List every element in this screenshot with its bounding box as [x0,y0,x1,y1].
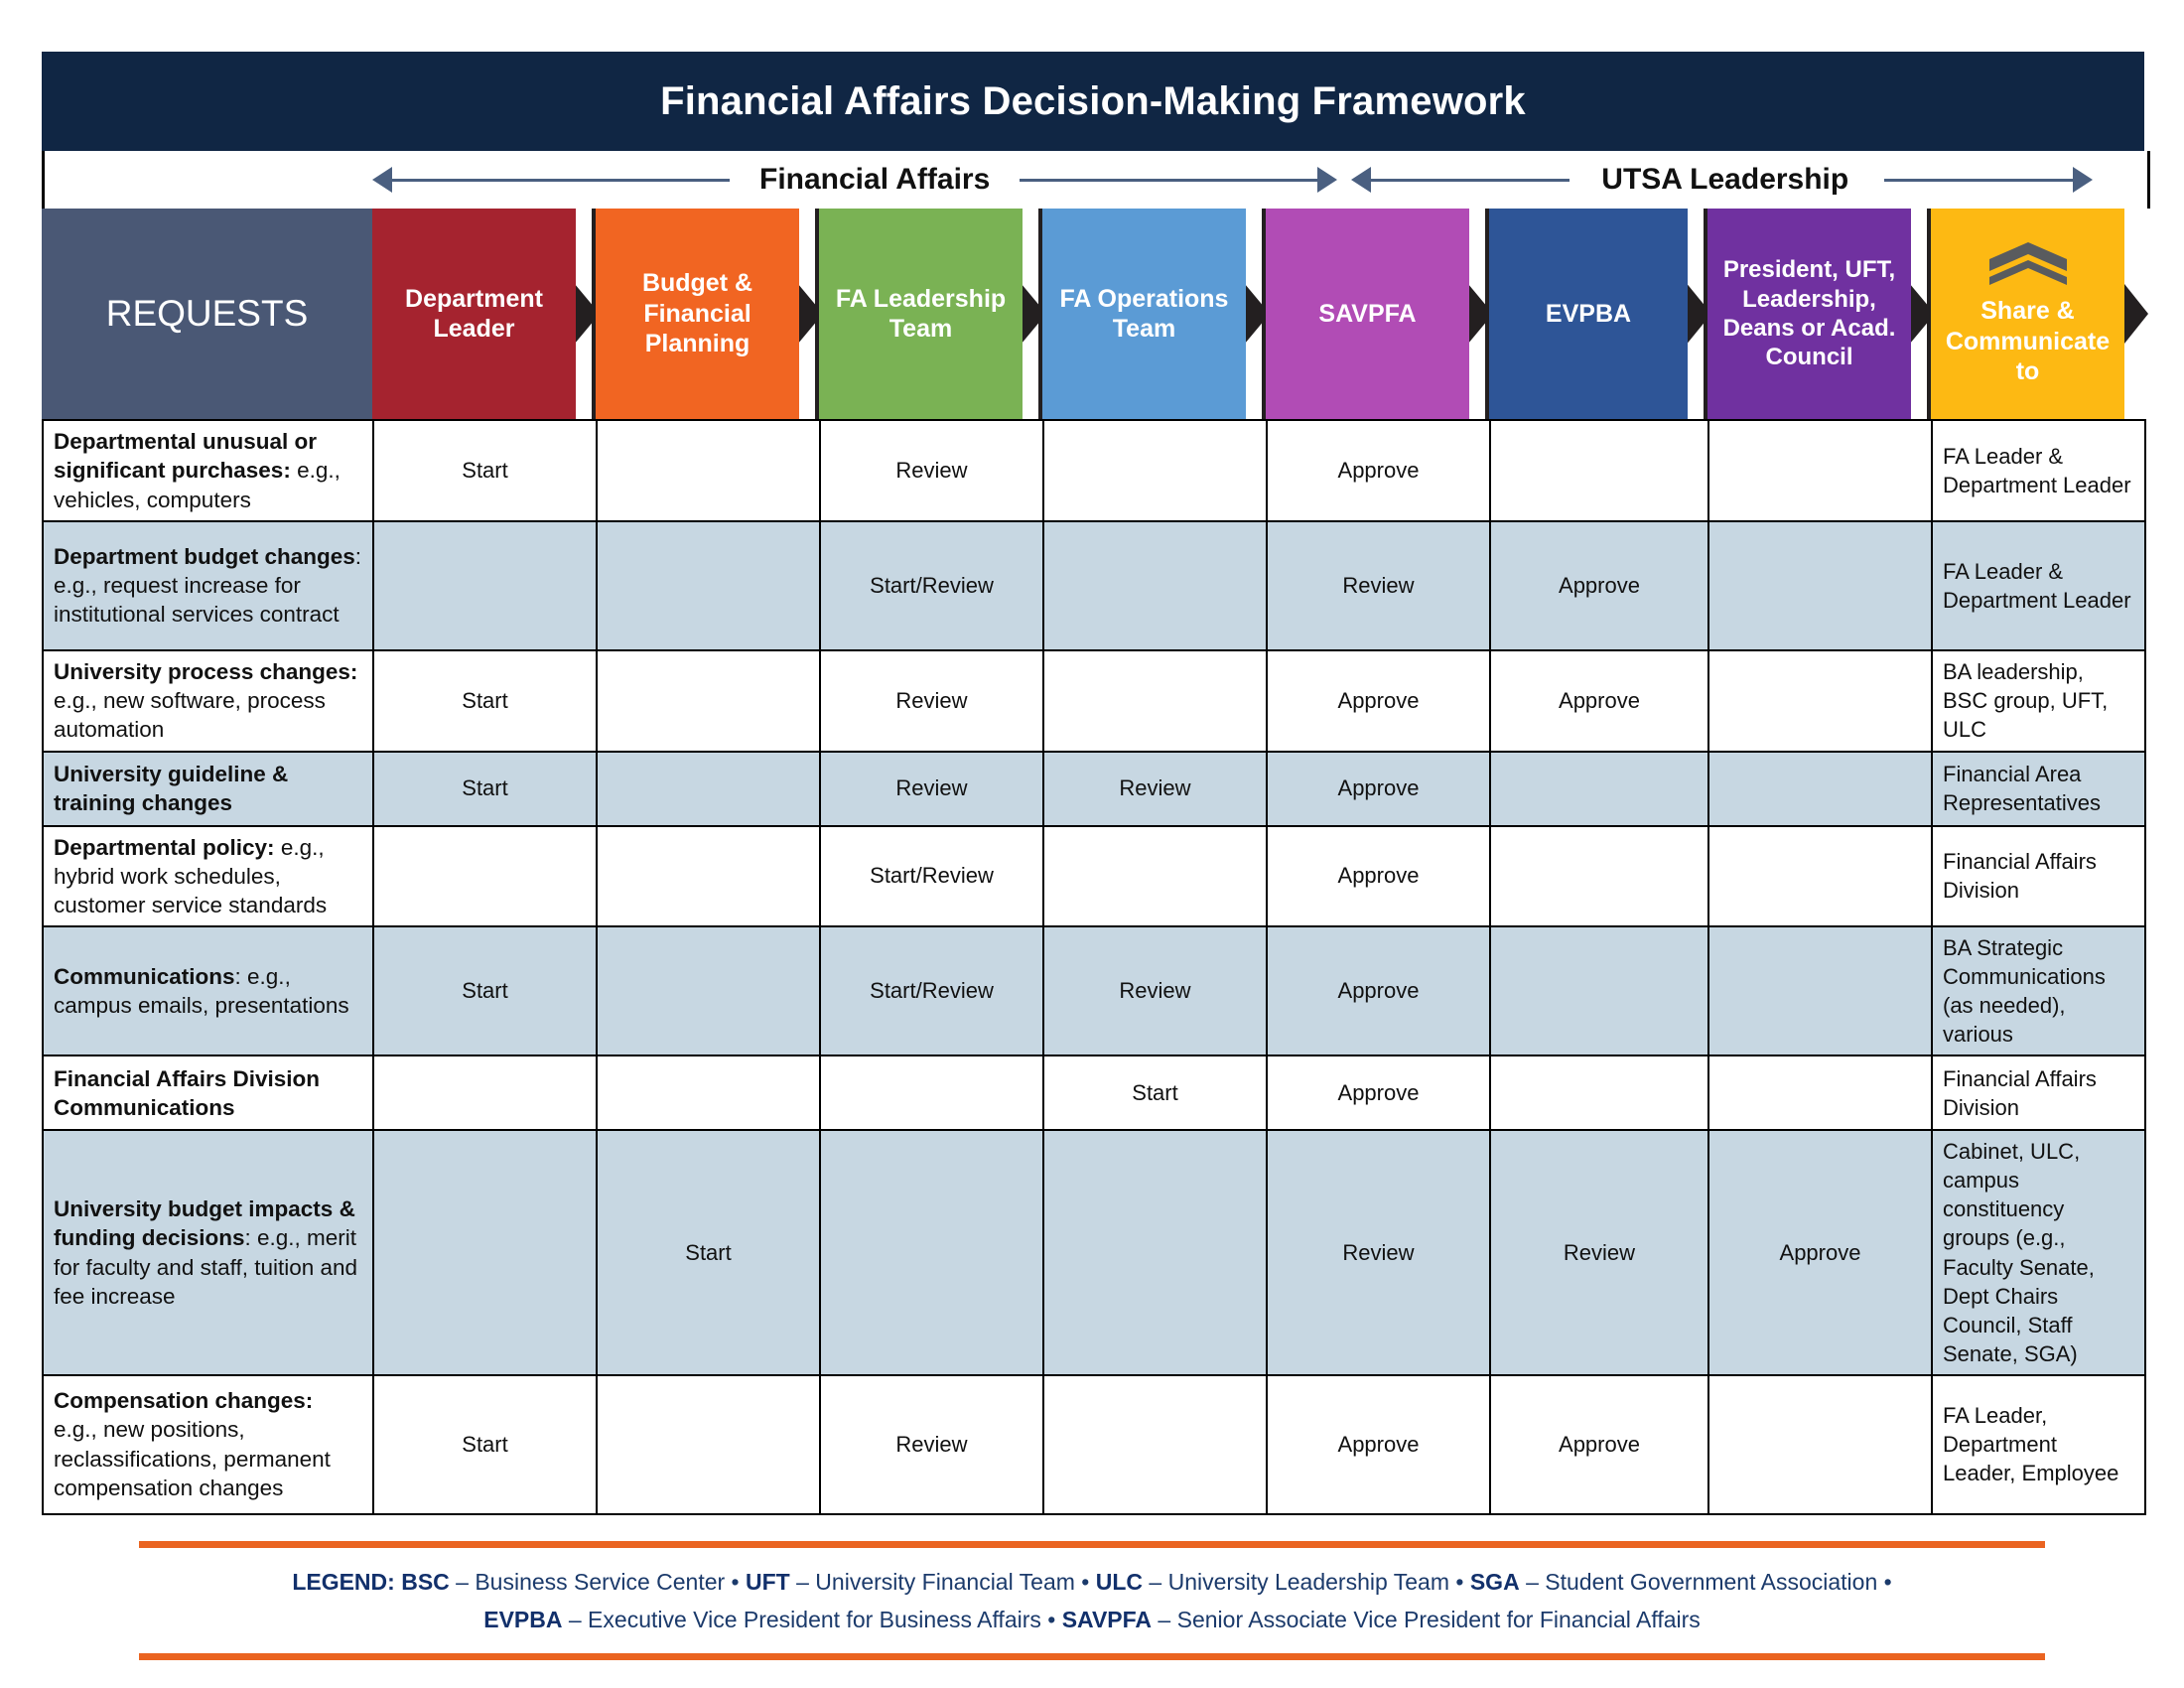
cell-evpba [1490,752,1708,826]
cell-evpba [1490,420,1708,521]
cell-fa_leadership: Start/Review [820,826,1043,927]
column-header-label: Share & Communicate to [1937,296,2118,387]
cell-share: Cabinet, ULC, campus constituency groups… [1932,1130,2145,1374]
table-row[interactable]: University process changes: e.g., new so… [43,650,2145,752]
double-chevron-up-icon [1985,240,2071,286]
column-header-label: Budget & Financial Planning [602,268,793,359]
legend-abbr: UFT [746,1569,790,1595]
request-cell: University process changes: e.g., new so… [43,650,373,752]
request-cell: Department budget changes: e.g., request… [43,521,373,650]
request-label-bold: University guideline & training changes [54,762,288,815]
cell-fa_operations [1043,420,1267,521]
column-header-label: FA Operations Team [1048,284,1240,345]
request-cell: Departmental unusual or significant purc… [43,420,373,521]
band-label-financial-affairs: Financial Affairs [759,163,990,197]
cell-share: Financial Area Representatives [1932,752,2145,826]
cell-fa_operations: Review [1043,926,1267,1055]
cell-fa_operations: Start [1043,1055,1267,1130]
cell-share: BA Strategic Communications (as needed),… [1932,926,2145,1055]
cell-share: FA Leader & Department Leader [1932,420,2145,521]
cell-share: Financial Affairs Division [1932,826,2145,927]
table-row[interactable]: Financial Affairs Division Communication… [43,1055,2145,1130]
table-row[interactable]: Compensation changes: e.g., new position… [43,1375,2145,1514]
column-header-requests[interactable]: REQUESTS [42,209,372,419]
cell-president [1708,420,1932,521]
framework-table-body: Departmental unusual or significant purc… [43,420,2145,1514]
legend-definition: – Student Government Association • [1520,1569,1892,1595]
framework-table: Departmental unusual or significant purc… [42,419,2146,1515]
cell-budget_fp [597,650,820,752]
cell-evpba [1490,826,1708,927]
column-header-evpba[interactable]: EVPBA [1489,209,1688,419]
cell-dept_leader: Start [373,420,597,521]
cell-dept_leader [373,826,597,927]
cell-dept_leader: Start [373,650,597,752]
cell-dept_leader [373,1130,597,1374]
cell-budget_fp [597,752,820,826]
cell-evpba [1490,926,1708,1055]
cell-savpfa: Approve [1267,752,1490,826]
request-cell: Financial Affairs Division Communication… [43,1055,373,1130]
table-row[interactable]: Department budget changes: e.g., request… [43,521,2145,650]
request-cell: Communications: e.g., campus emails, pre… [43,926,373,1055]
table-row[interactable]: Departmental policy: e.g., hybrid work s… [43,826,2145,927]
column-header-label: EVPBA [1546,299,1631,330]
legend-line-2: EVPBA – Executive Vice President for Bus… [139,1602,2045,1639]
cell-budget_fp [597,420,820,521]
cell-fa_leadership: Review [820,752,1043,826]
cell-savpfa: Approve [1267,650,1490,752]
cell-president [1708,926,1932,1055]
request-label-bold: University process changes: [54,659,357,684]
cell-budget_fp [597,826,820,927]
legend-definition: – Business Service Center • [450,1569,746,1595]
arrow-right-head-2-icon [2073,167,2093,193]
legend-abbr: LEGEND: BSC [292,1569,449,1595]
request-label-bold: Departmental unusual or significant purc… [54,429,317,483]
request-cell: University budget impacts & funding deci… [43,1130,373,1374]
column-header-president[interactable]: President, UFT, Leadership, Deans or Aca… [1707,209,1911,419]
diagram-title-bar: Financial Affairs Decision-Making Framew… [42,52,2144,151]
legend-definition: – Executive Vice President for Business … [562,1607,1061,1632]
column-header-label: SAVPFA [1318,299,1416,330]
cell-dept_leader [373,1055,597,1130]
cell-share: BA leadership, BSC group, UFT, ULC [1932,650,2145,752]
table-row[interactable]: Communications: e.g., campus emails, pre… [43,926,2145,1055]
framework-diagram: Financial Affairs Decision-Making Framew… [0,0,2184,1688]
arrow-left-head-icon [372,167,392,193]
column-header-fa_leadership[interactable]: FA Leadership Team [819,209,1023,419]
cell-fa_leadership: Start/Review [820,926,1043,1055]
column-header-share[interactable]: Share & Communicate to [1931,209,2124,419]
cell-savpfa: Approve [1267,926,1490,1055]
cell-president [1708,826,1932,927]
cell-savpfa: Approve [1267,1055,1490,1130]
legend-rule-top [139,1541,2045,1548]
arrow-right-head-icon [1317,167,1337,193]
cell-budget_fp [597,1375,820,1514]
column-header-budget_fp[interactable]: Budget & Financial Planning [596,209,799,419]
cell-president [1708,1375,1932,1514]
cell-president [1708,752,1932,826]
request-label-bold: Departmental policy: [54,835,275,860]
request-cell: Departmental policy: e.g., hybrid work s… [43,826,373,927]
cell-budget_fp: Start [597,1130,820,1374]
cell-savpfa: Approve [1267,826,1490,927]
cell-budget_fp [597,1055,820,1130]
arrow-left-head-2-icon [1351,167,1371,193]
cell-share: FA Leader, Department Leader, Employee [1932,1375,2145,1514]
column-header-strip: REQUESTSDepartment LeaderBudget & Financ… [42,209,2144,419]
band-label-utsa-leadership: UTSA Leadership [1601,163,1848,197]
column-header-label: President, UFT, Leadership, Deans or Aca… [1713,255,1905,371]
cell-evpba [1490,1055,1708,1130]
cell-fa_leadership: Review [820,650,1043,752]
cell-president [1708,1055,1932,1130]
legend-abbr: SAVPFA [1062,1607,1152,1632]
cell-dept_leader: Start [373,1375,597,1514]
legend-definition: – University Financial Team • [790,1569,1096,1595]
cell-dept_leader: Start [373,752,597,826]
legend-abbr: SGA [1470,1569,1520,1595]
cell-fa_leadership [820,1055,1043,1130]
cell-evpba: Approve [1490,650,1708,752]
table-row[interactable]: University guideline & training changesS… [43,752,2145,826]
cell-fa_operations: Review [1043,752,1267,826]
cell-fa_operations [1043,1375,1267,1514]
request-label-rest: e.g., new positions, reclassifications, … [54,1417,331,1500]
request-label-bold: Department budget changes [54,544,355,569]
column-header-savpfa[interactable]: SAVPFA [1266,209,1469,419]
cell-savpfa: Review [1267,1130,1490,1374]
cell-savpfa: Approve [1267,420,1490,521]
cell-savpfa: Review [1267,521,1490,650]
request-label-bold: Compensation changes: [54,1388,313,1413]
request-label-rest: e.g., new software, process automation [54,688,326,742]
cell-dept_leader [373,521,597,650]
request-label-bold: Communications [54,964,235,989]
cell-evpba: Review [1490,1130,1708,1374]
cell-evpba: Approve [1490,1375,1708,1514]
column-header-label: REQUESTS [106,291,309,336]
table-row[interactable]: University budget impacts & funding deci… [43,1130,2145,1374]
legend: LEGEND: BSC – Business Service Center • … [139,1541,2045,1660]
legend-definition: – University Leadership Team • [1143,1569,1470,1595]
table-row[interactable]: Departmental unusual or significant purc… [43,420,2145,521]
legend-text: LEGEND: BSC – Business Service Center • … [139,1548,2045,1653]
cell-fa_operations [1043,826,1267,927]
cell-president [1708,650,1932,752]
cell-evpba: Approve [1490,521,1708,650]
legend-definition: – Senior Associate Vice President for Fi… [1152,1607,1701,1632]
request-cell: University guideline & training changes [43,752,373,826]
cell-fa_operations [1043,650,1267,752]
cell-fa_leadership: Review [820,420,1043,521]
page-title: Financial Affairs Decision-Making Framew… [660,79,1526,124]
column-header-label: FA Leadership Team [825,284,1017,345]
cell-president: Approve [1708,1130,1932,1374]
cell-savpfa: Approve [1267,1375,1490,1514]
scope-band: Financial Affairs UTSA Leadership [42,151,2150,209]
cell-fa_leadership: Start/Review [820,521,1043,650]
legend-abbr: EVPBA [483,1607,562,1632]
cell-fa_operations [1043,521,1267,650]
cell-share: Financial Affairs Division [1932,1055,2145,1130]
legend-abbr: ULC [1096,1569,1143,1595]
cell-fa_leadership [820,1130,1043,1374]
cell-budget_fp [597,521,820,650]
cell-budget_fp [597,926,820,1055]
column-header-label: Department Leader [378,284,570,345]
legend-line-1: LEGEND: BSC – Business Service Center • … [139,1564,2045,1602]
column-header-dept_leader[interactable]: Department Leader [372,209,576,419]
request-cell: Compensation changes: e.g., new position… [43,1375,373,1514]
request-label-bold: Financial Affairs Division Communication… [54,1066,320,1120]
cell-dept_leader: Start [373,926,597,1055]
cell-fa_operations [1043,1130,1267,1374]
column-header-fa_operations[interactable]: FA Operations Team [1042,209,1246,419]
cell-president [1708,521,1932,650]
cell-fa_leadership: Review [820,1375,1043,1514]
legend-rule-bottom [139,1653,2045,1660]
cell-share: FA Leader & Department Leader [1932,521,2145,650]
